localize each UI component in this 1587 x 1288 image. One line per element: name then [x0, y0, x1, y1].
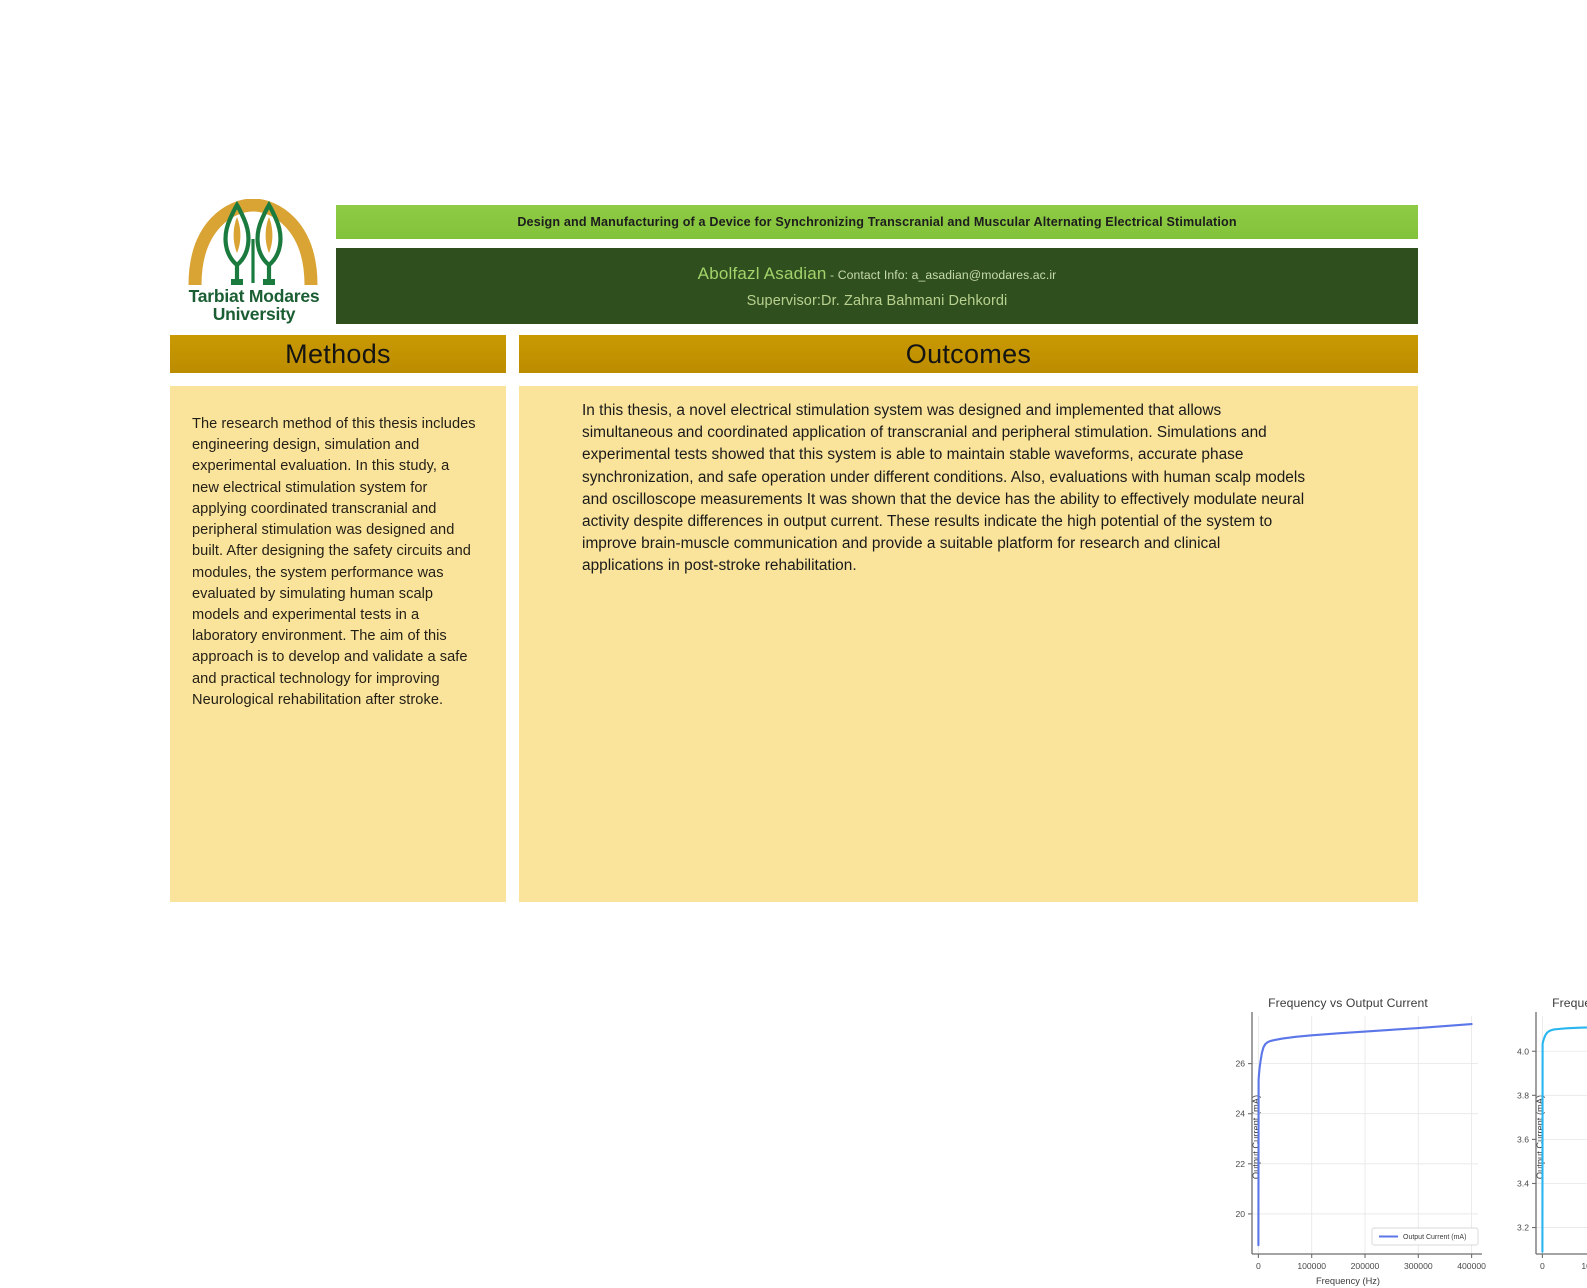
svg-text:400000: 400000	[1457, 1261, 1486, 1271]
svg-text:3.8: 3.8	[1517, 1090, 1529, 1100]
chart-frequency-vs-output-current-right: Frequency vs Output Current Output Curre…	[1490, 986, 1587, 1288]
poster-title: Design and Manufacturing of a Device for…	[517, 215, 1236, 229]
section-header-outcomes: Outcomes	[519, 335, 1418, 373]
tarbiat-modares-emblem-icon	[179, 199, 329, 287]
svg-text:20: 20	[1235, 1209, 1245, 1219]
svg-text:3.2: 3.2	[1517, 1223, 1529, 1233]
poster-canvas: Tarbiat Modares University Design and Ma…	[0, 0, 1587, 1123]
svg-text:4.0: 4.0	[1517, 1046, 1529, 1056]
chart-right-plot: 3.23.43.63.84.00100000200000300000400000…	[1490, 986, 1587, 1288]
svg-text:200000: 200000	[1351, 1261, 1380, 1271]
section-title-methods: Methods	[285, 339, 391, 370]
chart-frequency-vs-output-current-left: Frequency vs Output Current Output Curre…	[1206, 986, 1490, 1288]
charts-figure-panel: Frequency vs Output Current Output Curre…	[1206, 986, 1587, 1288]
section-title-outcomes: Outcomes	[906, 339, 1031, 370]
svg-text:3.4: 3.4	[1517, 1178, 1529, 1188]
svg-text:0: 0	[1540, 1261, 1545, 1271]
svg-text:22: 22	[1235, 1159, 1245, 1169]
author-contact-info: - Contact Info: a_asadian@modares.ac.ir	[827, 268, 1057, 282]
svg-text:0: 0	[1256, 1261, 1261, 1271]
outcomes-panel: In this thesis, a novel electrical stimu…	[519, 386, 1418, 902]
university-logo: Tarbiat Modares University	[176, 196, 332, 324]
svg-text:3.6: 3.6	[1517, 1134, 1529, 1144]
poster-author-bar: Abolfazl Asadian - Contact Info: a_asadi…	[336, 248, 1418, 324]
svg-text:24: 24	[1235, 1109, 1245, 1119]
svg-text:26: 26	[1235, 1059, 1245, 1069]
supervisor-name: Supervisor:Dr. Zahra Bahmani Dehkordi	[747, 293, 1008, 309]
section-header-methods: Methods	[170, 335, 506, 373]
svg-text:300000: 300000	[1404, 1261, 1433, 1271]
author-row: Abolfazl Asadian - Contact Info: a_asadi…	[698, 264, 1057, 284]
poster-title-bar: Design and Manufacturing of a Device for…	[336, 205, 1418, 239]
logo-line-2: University	[189, 306, 320, 324]
svg-text:Output Current (mA): Output Current (mA)	[1403, 1234, 1466, 1241]
svg-text:100000: 100000	[1581, 1261, 1587, 1271]
author-name: Abolfazl Asadian	[698, 264, 827, 283]
methods-body-text: The research method of this thesis inclu…	[192, 414, 480, 711]
chart-left-plot: 202224260100000200000300000400000Output …	[1206, 986, 1490, 1288]
outcomes-body-text: In this thesis, a novel electrical stimu…	[582, 400, 1306, 577]
svg-text:100000: 100000	[1297, 1261, 1326, 1271]
methods-panel: The research method of this thesis inclu…	[170, 386, 506, 902]
logo-wordmark: Tarbiat Modares University	[189, 288, 320, 324]
logo-mark-icon	[179, 199, 329, 287]
